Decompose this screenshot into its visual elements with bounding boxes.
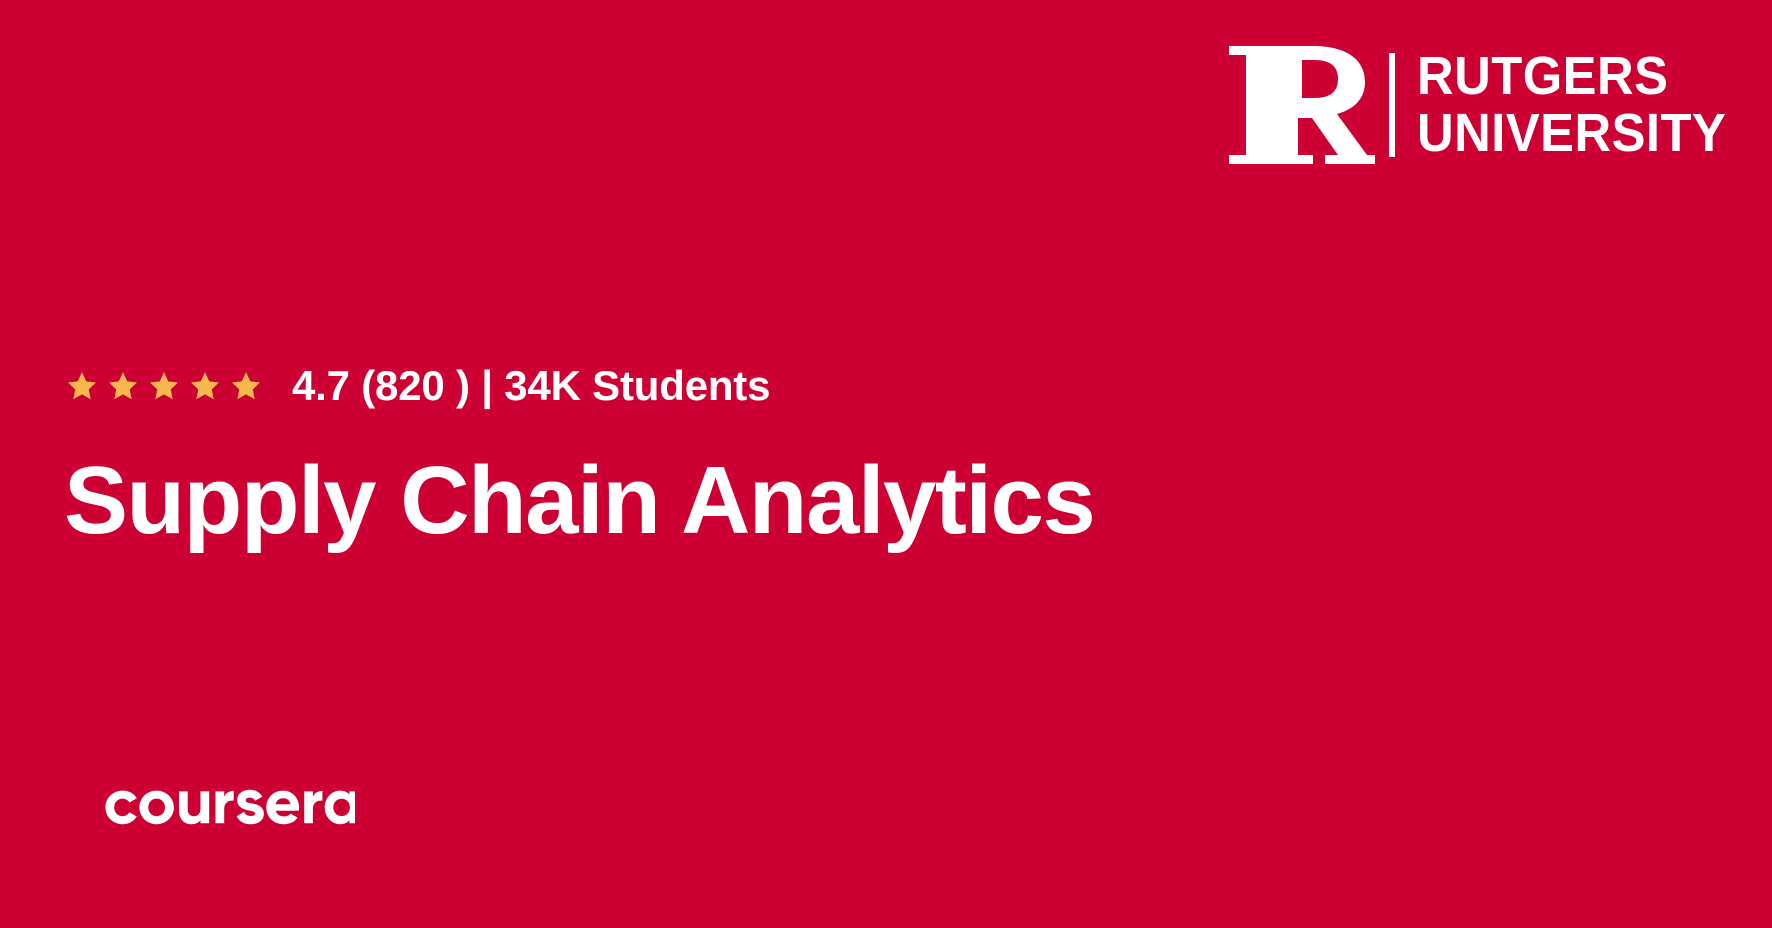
star-rating [66,370,262,402]
rating-summary-text: 4.7 (820 ) | 34K Students [292,365,770,407]
logo-divider [1389,53,1395,157]
rating-row: 4.7 (820 ) | 34K Students [66,358,770,414]
coursera-logo [99,778,355,834]
coursera-wordmark-icon [99,778,355,834]
star-icon [107,370,139,402]
star-icon [148,370,180,402]
rutgers-block-r-icon [1225,40,1375,170]
star-icon [66,370,98,402]
rutgers-university-logo: RUTGERS UNIVERSITY [1225,40,1746,170]
rutgers-wordmark-line2: UNIVERSITY [1417,105,1726,162]
star-icon [230,370,262,402]
rutgers-wordmark-line1: RUTGERS [1417,48,1726,105]
course-title: Supply Chain Analytics [64,447,1094,555]
rutgers-wordmark: RUTGERS UNIVERSITY [1417,45,1746,165]
course-promo-banner: RUTGERS UNIVERSITY 4.7 (820 ) | 34K Stud… [0,0,1772,928]
star-icon [189,370,221,402]
